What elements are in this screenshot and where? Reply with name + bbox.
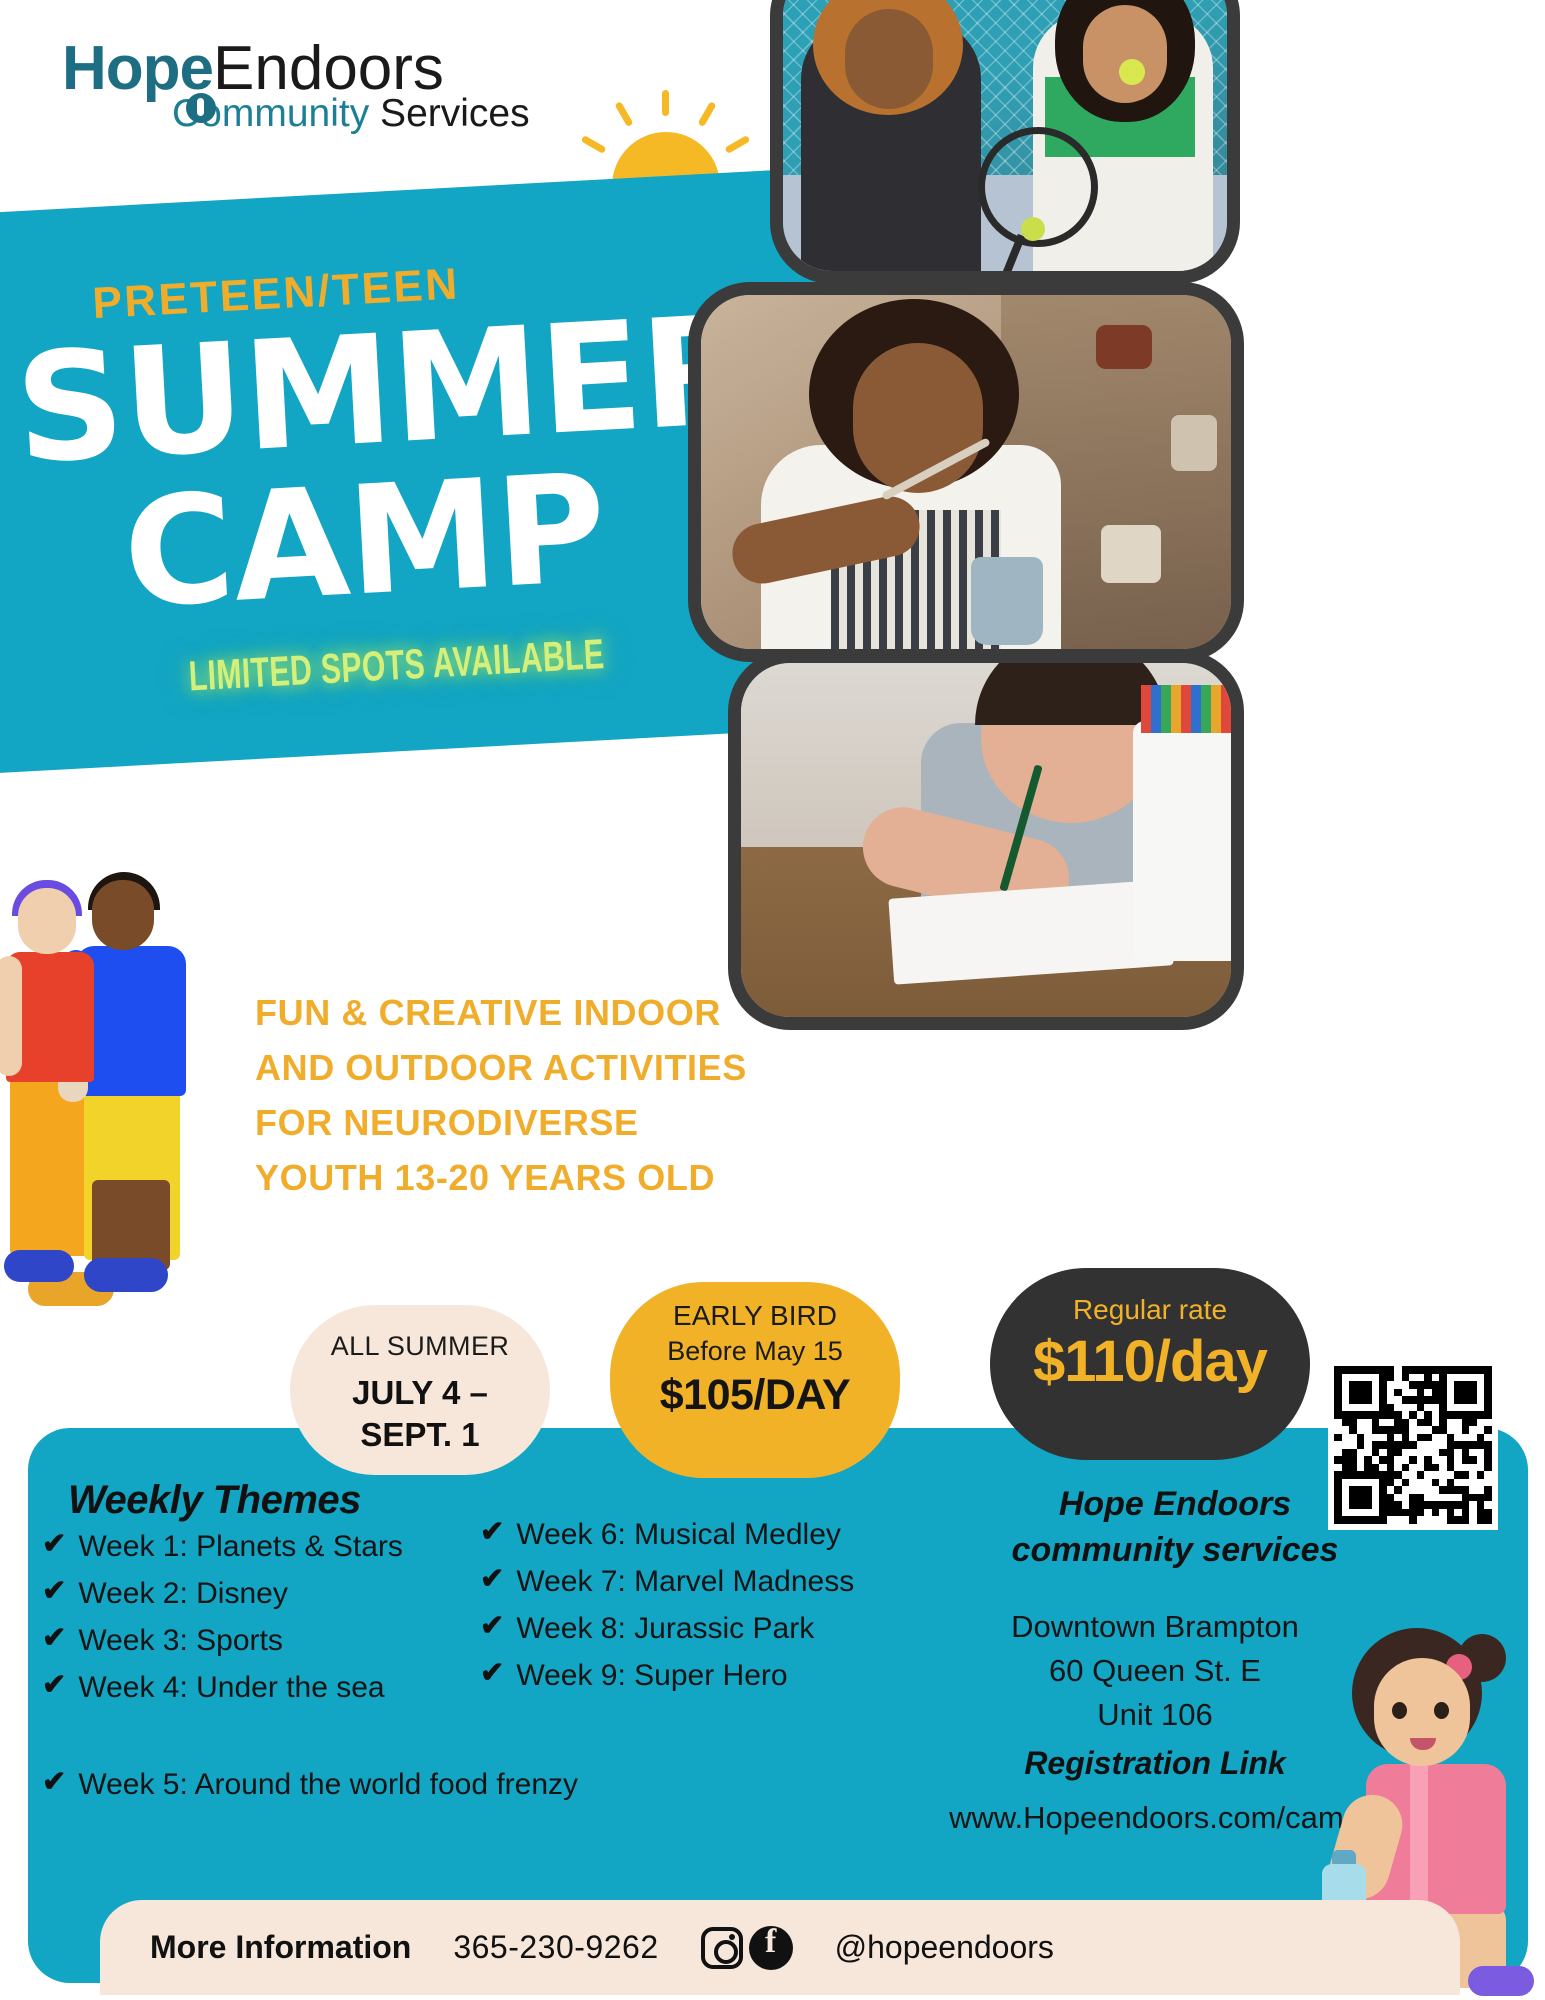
- theme-list-item: ✔Week 3: Sports: [42, 1624, 522, 1658]
- theme-label: Week 8: Jurassic Park: [516, 1612, 814, 1646]
- weekly-themes-column-left: ✔Week 1: Planets & Stars✔ Week 2: Disney…: [42, 1530, 522, 1718]
- hero-tagline: LIMITED SPOTS AVAILABLE: [188, 630, 606, 700]
- check-icon: ✔: [42, 1624, 66, 1653]
- logo-secondary-row: Community Services: [172, 94, 562, 135]
- instagram-icon[interactable]: [701, 1927, 743, 1969]
- check-icon: ✔: [480, 1659, 504, 1688]
- description-line-3: FOR NEURODIVERSE: [255, 1095, 895, 1150]
- theme-list-item: ✔Week 4: Under the sea: [42, 1671, 522, 1705]
- description-line-2: AND OUTDOOR ACTIVITIES: [255, 1040, 895, 1095]
- registration-label: Registration Link: [945, 1745, 1365, 1782]
- social-handle[interactable]: @hopeendoors: [835, 1929, 1054, 1966]
- theme-label: Week 5: Around the world food frenzy: [78, 1768, 578, 1802]
- check-icon: ✔: [480, 1565, 504, 1594]
- theme-list-item: ✔Week 5: Around the world food frenzy: [42, 1768, 802, 1802]
- all-summer-dates-line2: SEPT. 1: [290, 1414, 550, 1456]
- more-information-label: More Information: [150, 1929, 411, 1966]
- theme-list-item: ✔Week 6: Musical Medley: [480, 1518, 910, 1552]
- photo-card-writing: [728, 650, 1244, 1030]
- teens-illustration: [0, 880, 230, 1400]
- address-line-2: 60 Queen St. E: [945, 1649, 1365, 1693]
- theme-label: Week 6: Musical Medley: [516, 1518, 841, 1552]
- check-icon: ✔: [42, 1671, 66, 1700]
- early-bird-label: EARLY BIRD: [610, 1300, 900, 1332]
- check-icon: ✔: [42, 1577, 66, 1606]
- brand-logo: HopeEndoors Community Services: [62, 38, 562, 135]
- phone-number[interactable]: 365-230-9262: [453, 1929, 658, 1966]
- photo-card-pottery: [688, 282, 1244, 662]
- weekly-themes-heading: Weekly Themes: [68, 1478, 361, 1523]
- theme-list-item: ✔ Week 2: Disney: [42, 1577, 522, 1611]
- early-bird-price: $105/DAY: [610, 1371, 900, 1420]
- address-line-3: Unit 106: [945, 1693, 1365, 1737]
- price-pill-early-bird: EARLY BIRD Before May 15 $105/DAY: [610, 1282, 900, 1478]
- regular-rate-label: Regular rate: [990, 1294, 1310, 1326]
- price-pill-regular-rate: Regular rate $110/day: [990, 1268, 1310, 1460]
- check-icon: ✔: [42, 1530, 66, 1559]
- theme-list-item: ✔Week 8: Jurassic Park: [480, 1612, 910, 1646]
- theme-label: Week 1: Planets & Stars: [78, 1530, 403, 1564]
- theme-list-item: ✔Week 9: Super Hero: [480, 1659, 910, 1693]
- theme-label: Week 2: Disney: [78, 1577, 288, 1611]
- weekly-themes-column-right: ✔Week 6: Musical Medley✔Week 7: Marvel M…: [480, 1518, 910, 1706]
- footer-bar: More Information 365-230-9262 @hopeendoo…: [100, 1900, 1460, 1995]
- description-line-4: YOUTH 13-20 YEARS OLD: [255, 1150, 895, 1205]
- check-icon: ✔: [480, 1518, 504, 1547]
- organization-name-line2: community services: [965, 1528, 1385, 1574]
- all-summer-label: ALL SUMMER: [290, 1331, 550, 1362]
- logo-door-icon: [186, 93, 216, 123]
- address-block: Downtown Brampton 60 Queen St. E Unit 10…: [945, 1605, 1365, 1737]
- description-block: FUN & CREATIVE INDOOR AND OUTDOOR ACTIVI…: [255, 985, 895, 1205]
- address-line-1: Downtown Brampton: [945, 1605, 1365, 1649]
- organization-name: Hope Endoors community services: [965, 1482, 1385, 1574]
- regular-rate-price: $110/day: [990, 1328, 1310, 1395]
- logo-primary-row: HopeEndoors: [62, 38, 562, 100]
- theme-label: Week 9: Super Hero: [516, 1659, 787, 1693]
- weekly-themes-column-wide: ✔Week 5: Around the world food frenzy: [42, 1768, 802, 1815]
- description-line-1: FUN & CREATIVE INDOOR: [255, 985, 895, 1040]
- theme-label: Week 4: Under the sea: [78, 1671, 384, 1705]
- all-summer-dates-line1: JULY 4 –: [290, 1372, 550, 1414]
- theme-list-item: ✔Week 1: Planets & Stars: [42, 1530, 522, 1564]
- hero-title-line2: CAMP: [120, 460, 608, 624]
- organization-name-line1: Hope Endoors: [965, 1482, 1385, 1528]
- logo-services-text: Services: [369, 92, 529, 135]
- facebook-icon[interactable]: [749, 1926, 793, 1970]
- theme-label: Week 3: Sports: [78, 1624, 283, 1658]
- social-icons: [701, 1926, 793, 1970]
- theme-label: Week 7: Marvel Madness: [516, 1565, 854, 1599]
- check-icon: ✔: [42, 1768, 66, 1797]
- photo-card-tennis: [770, 0, 1240, 284]
- theme-list-item: ✔Week 7: Marvel Madness: [480, 1565, 910, 1599]
- check-icon: ✔: [480, 1612, 504, 1641]
- early-bird-sublabel: Before May 15: [610, 1336, 900, 1367]
- price-pill-all-summer: ALL SUMMER JULY 4 – SEPT. 1: [290, 1305, 550, 1475]
